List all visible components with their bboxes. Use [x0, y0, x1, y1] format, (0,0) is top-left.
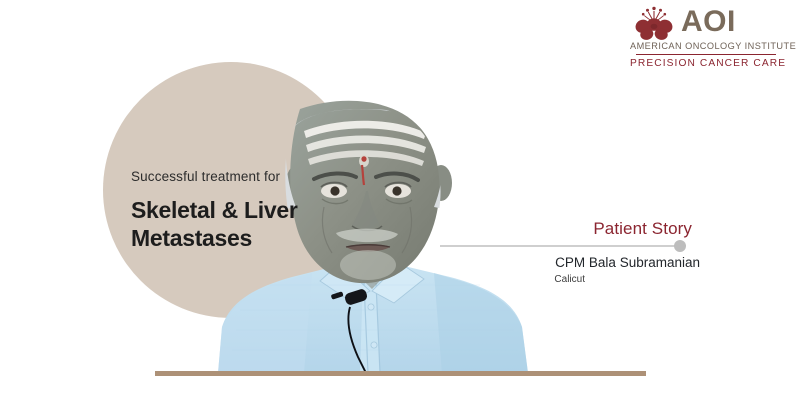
floor-bar-decoration	[155, 371, 646, 376]
patient-story-block: Patient Story CPM Bala Subramanian Calic…	[440, 218, 710, 287]
aoi-logo: AOI AMERICAN ONCOLOGY INSTITUTE PRECISIO…	[630, 6, 782, 68]
patient-name: CPM Bala Subramanian	[440, 254, 710, 272]
patient-story-rule	[440, 240, 710, 252]
rule-end-dot-icon	[674, 240, 686, 252]
logo-divider	[636, 54, 776, 55]
banner-canvas: Successful treatment for Skeletal & Live…	[0, 0, 800, 400]
headline-line-2: Metastases	[131, 224, 346, 252]
headline-eyebrow: Successful treatment for	[131, 168, 346, 186]
headline-line-1: Skeletal & Liver	[131, 196, 346, 224]
headline-block: Successful treatment for Skeletal & Live…	[131, 168, 346, 252]
aoi-tagline-top: AMERICAN ONCOLOGY INSTITUTE	[630, 41, 782, 51]
patient-city: Calicut	[440, 273, 710, 287]
logo-top-row: AOI	[630, 6, 782, 40]
aoi-wordmark: AOI	[681, 6, 736, 37]
patient-story-title: Patient Story	[440, 218, 710, 239]
horizontal-rule	[440, 245, 682, 247]
aoi-tagline-bottom: PRECISION CANCER CARE	[630, 58, 782, 69]
aoi-hibiscus-flower-icon	[630, 6, 678, 40]
